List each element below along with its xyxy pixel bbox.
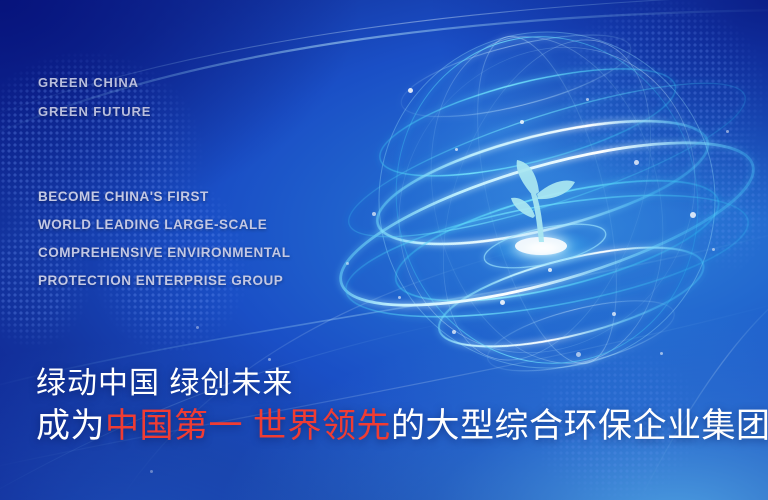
- tagline-line-4: PROTECTION ENTERPRISE GROUP: [38, 267, 291, 295]
- wireframe-globe: [325, 10, 768, 400]
- hero-banner: GREEN CHINA GREEN FUTURE BECOME CHINA'S …: [0, 0, 768, 500]
- particle: [150, 470, 153, 473]
- headline-suffix: 的大型综合环保企业集团: [391, 407, 768, 445]
- headline-prefix: 成为: [36, 407, 105, 445]
- particle: [268, 358, 271, 361]
- particle: [196, 326, 199, 329]
- eyebrow-line-2: GREEN FUTURE: [38, 97, 151, 126]
- tagline-line-1: BECOME CHINA'S FIRST: [38, 183, 291, 211]
- tagline-line-3: COMPREHENSIVE ENVIRONMENTAL: [38, 239, 291, 267]
- eyebrow-line-1: GREEN CHINA: [38, 68, 151, 97]
- headline-highlight: 中国第一 世界领先: [105, 407, 391, 445]
- headline-line-2: 成为中国第一 世界领先的大型综合环保企业集团: [36, 404, 768, 448]
- tagline-text: BECOME CHINA'S FIRST WORLD LEADING LARGE…: [38, 183, 291, 295]
- headline-line-1: 绿动中国 绿创未来: [36, 364, 768, 404]
- headline: 绿动中国 绿创未来 成为中国第一 世界领先的大型综合环保企业集团: [36, 364, 768, 448]
- tagline-line-2: WORLD LEADING LARGE-SCALE: [38, 211, 291, 239]
- eyebrow-text: GREEN CHINA GREEN FUTURE: [38, 68, 151, 126]
